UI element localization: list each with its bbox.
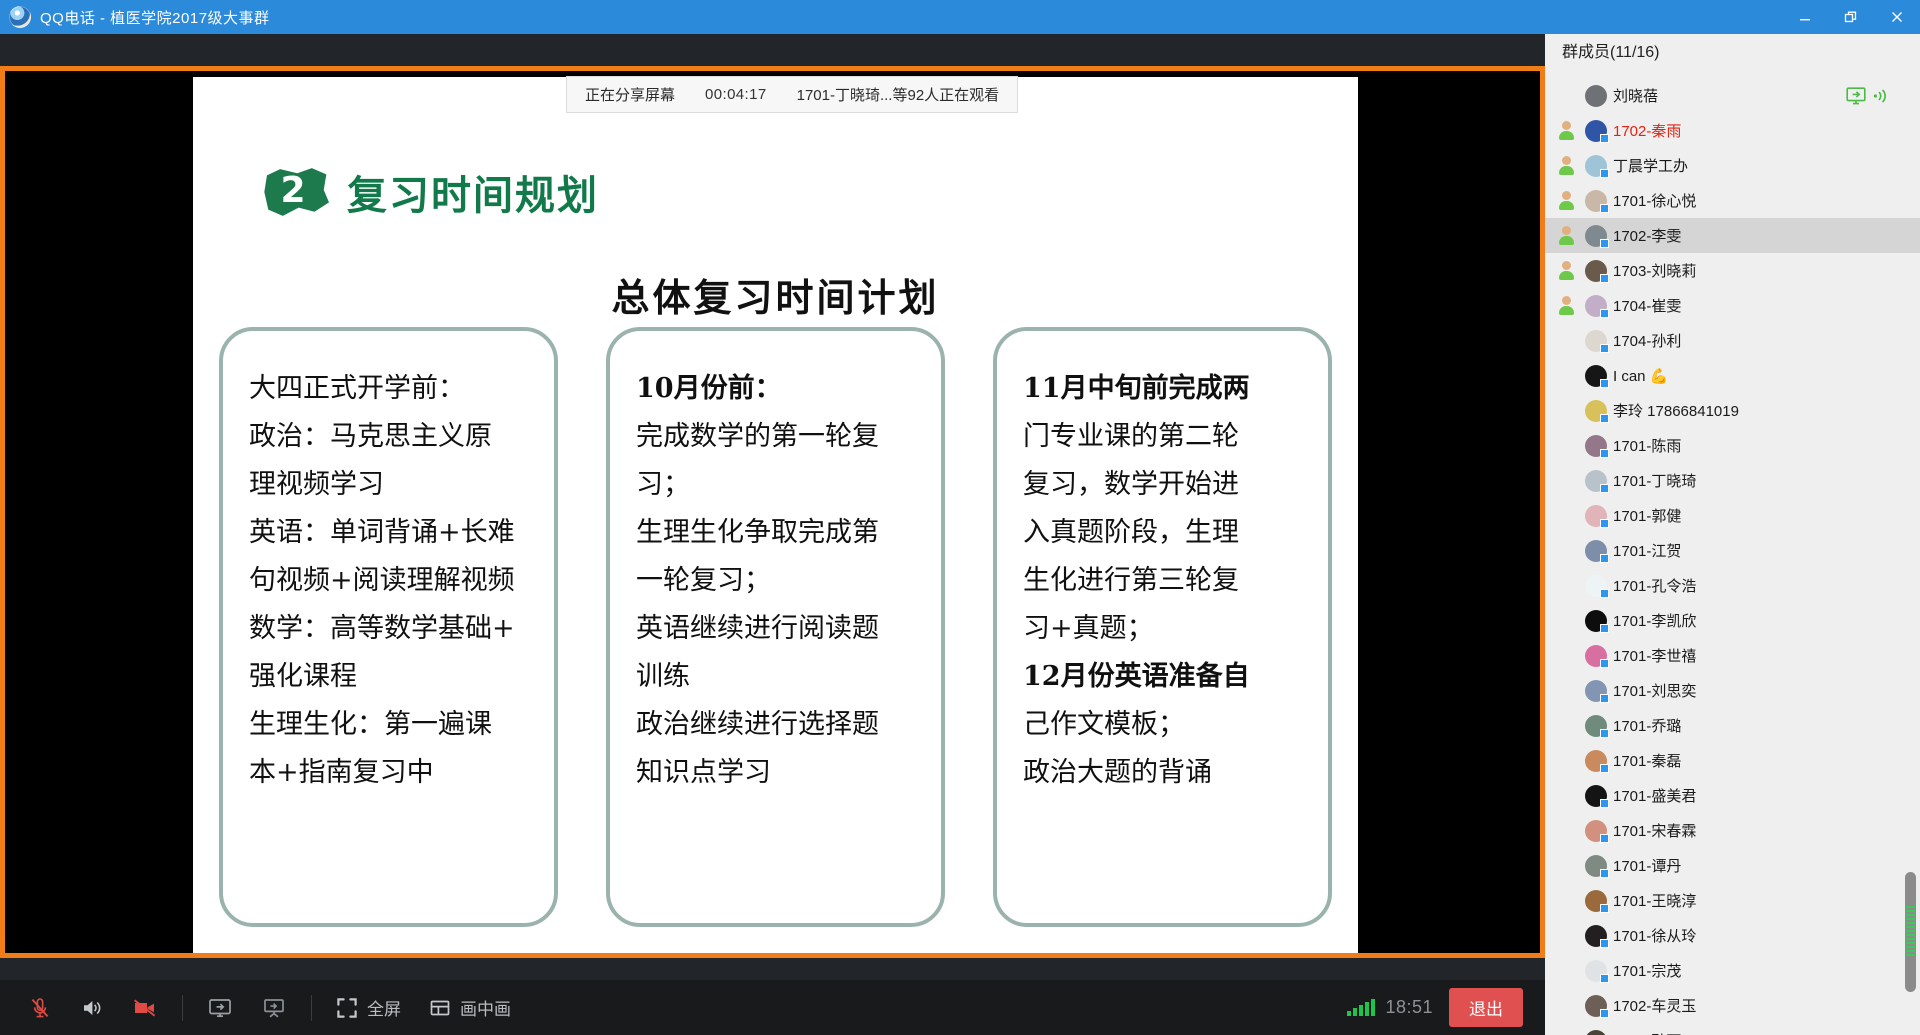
plan-line: 己作文模板； bbox=[1023, 701, 1306, 749]
plan-line: 英语：单词背诵+长难 bbox=[249, 509, 532, 557]
member-avatar bbox=[1585, 435, 1607, 457]
member-avatar bbox=[1585, 225, 1607, 247]
member-name: 1701-宋春霖 bbox=[1613, 820, 1696, 841]
member-mic-slot-empty bbox=[1553, 539, 1579, 563]
share-status-label: 正在分享屏幕 bbox=[585, 84, 675, 105]
member-avatar bbox=[1585, 995, 1607, 1017]
member-avatar bbox=[1585, 505, 1607, 527]
member-avatar bbox=[1585, 400, 1607, 422]
member-avatar bbox=[1585, 855, 1607, 877]
member-list-item[interactable]: 1701-谭丹 bbox=[1545, 848, 1920, 883]
qq-status-badge-icon bbox=[1600, 449, 1609, 458]
member-mic-slot-empty bbox=[1553, 434, 1579, 458]
member-name: 1701-徐从玲 bbox=[1613, 925, 1696, 946]
call-toolbar: 全屏 画中画 18:51 退出 bbox=[0, 980, 1545, 1035]
window-controls bbox=[1782, 0, 1920, 34]
screen-sharing-icon bbox=[1846, 87, 1866, 105]
qq-status-badge-icon bbox=[1600, 239, 1609, 248]
person-icon bbox=[1559, 191, 1574, 210]
qq-penguin-icon bbox=[9, 6, 31, 28]
member-mic-slot-empty bbox=[1553, 84, 1579, 108]
qq-status-badge-icon bbox=[1600, 274, 1609, 283]
plan-box-group: 大四正式开学前： 政治：马克思主义原 理视频学习 英语：单词背诵+长难 句视频+… bbox=[219, 327, 1332, 927]
member-name: 1701-丁晓琦 bbox=[1613, 470, 1696, 491]
member-name: 1701-乔璐 bbox=[1613, 715, 1681, 736]
member-name: 1701-孔令浩 bbox=[1613, 575, 1696, 596]
restore-button[interactable] bbox=[1828, 0, 1874, 34]
member-name: 丁晨学工办 bbox=[1613, 155, 1688, 176]
slide-section-heading: 2 复习时间规划 bbox=[263, 162, 599, 222]
member-list-item[interactable]: 1701-郭健 bbox=[1545, 498, 1920, 533]
section-number: 2 bbox=[260, 160, 326, 220]
close-button[interactable] bbox=[1874, 0, 1920, 34]
member-avatar bbox=[1585, 190, 1607, 212]
qq-status-badge-icon bbox=[1600, 764, 1609, 773]
member-mic-slot-empty bbox=[1553, 679, 1579, 703]
member-list-item[interactable]: 1702-李雯 bbox=[1545, 218, 1920, 253]
member-status-icons bbox=[1846, 87, 1920, 105]
qq-status-badge-icon bbox=[1600, 694, 1609, 703]
member-name: 1701-陈雨 bbox=[1613, 435, 1681, 456]
member-list-item[interactable]: 1701-宋春霖 bbox=[1545, 813, 1920, 848]
member-mic-slot-empty bbox=[1553, 749, 1579, 773]
plan-line: 一轮复习； bbox=[636, 557, 919, 605]
section-title: 复习时间规划 bbox=[347, 163, 599, 221]
picture-in-picture-icon bbox=[429, 997, 451, 1019]
member-avatar bbox=[1585, 155, 1607, 177]
member-list-item[interactable]: 1703-刘晓莉 bbox=[1545, 253, 1920, 288]
microphone-muted-icon bbox=[28, 996, 52, 1020]
plan-line: 10月份前： bbox=[636, 365, 919, 413]
member-mic-slot-empty bbox=[1553, 399, 1579, 423]
qq-call-window: QQ电话 - 植医学院2017级大事群 bbox=[0, 0, 1920, 1035]
member-list-item[interactable]: 刘晓蓓 bbox=[1545, 78, 1920, 113]
member-avatar bbox=[1585, 785, 1607, 807]
qq-status-badge-icon bbox=[1600, 169, 1609, 178]
exit-call-button[interactable]: 退出 bbox=[1449, 988, 1523, 1027]
members-scrollbar-thumb[interactable] bbox=[1906, 906, 1915, 958]
member-avatar bbox=[1585, 85, 1607, 107]
slide-main-title: 总体复习时间计划 bbox=[193, 267, 1358, 322]
share-screen-button[interactable] bbox=[193, 980, 247, 1035]
qq-status-badge-icon bbox=[1600, 309, 1609, 318]
picture-in-picture-button[interactable]: 画中画 bbox=[415, 980, 525, 1035]
member-avatar bbox=[1585, 925, 1607, 947]
plan-line: 强化课程 bbox=[249, 653, 532, 701]
qq-status-badge-icon bbox=[1600, 729, 1609, 738]
member-name: 1701-李凯欣 bbox=[1613, 610, 1696, 631]
member-avatar bbox=[1585, 750, 1607, 772]
fullscreen-label: 全屏 bbox=[367, 995, 401, 1020]
qq-status-badge-icon bbox=[1600, 904, 1609, 913]
plan-line: 12月份英语准备自 bbox=[1023, 653, 1306, 701]
share-viewers-label: 1701-丁晓琦...等92人正在观看 bbox=[797, 84, 1000, 105]
member-mic-on-icon bbox=[1553, 154, 1579, 178]
member-name: 1701-谭丹 bbox=[1613, 855, 1681, 876]
qq-status-badge-icon bbox=[1600, 414, 1609, 423]
member-list-item[interactable]: 1701-孔令浩 bbox=[1545, 568, 1920, 603]
plan-line: 政治：马克思主义原 bbox=[249, 413, 532, 461]
share-screen-icon bbox=[207, 996, 233, 1020]
plan-line: 习； bbox=[636, 461, 919, 509]
shared-slide: 2 复习时间规划 总体复习时间计划 大四正式开学前： 政治：马克思主义原 理视频… bbox=[193, 77, 1358, 953]
microphone-muted-button[interactable] bbox=[14, 980, 66, 1035]
member-mic-slot-empty bbox=[1553, 994, 1579, 1018]
qq-status-badge-icon bbox=[1600, 519, 1609, 528]
plan-line: 门专业课的第二轮 bbox=[1023, 413, 1306, 461]
member-mic-slot-empty bbox=[1553, 644, 1579, 668]
plan-line: 大四正式开学前： bbox=[249, 365, 532, 413]
plan-line: 英语继续进行阅读题 bbox=[636, 605, 919, 653]
member-list-item[interactable]: 1701-乔璐 bbox=[1545, 708, 1920, 743]
qq-status-badge-icon bbox=[1600, 1009, 1609, 1018]
plan-line: 本+指南复习中 bbox=[249, 749, 532, 797]
member-name: 1701-盛美君 bbox=[1613, 785, 1696, 806]
call-clock: 18:51 bbox=[1385, 997, 1433, 1018]
video-stage: 2 复习时间规划 总体复习时间计划 大四正式开学前： 政治：马克思主义原 理视频… bbox=[0, 66, 1545, 958]
member-mic-slot-empty bbox=[1553, 364, 1579, 388]
qq-status-badge-icon bbox=[1600, 624, 1609, 633]
plan-line: 11月中旬前完成两 bbox=[1023, 365, 1306, 413]
member-name: 1703-刘晓莉 bbox=[1613, 260, 1696, 281]
plan-line: 数学：高等数学基础+ bbox=[249, 605, 532, 653]
member-name: I can 💪 bbox=[1613, 367, 1668, 385]
member-mic-slot-empty bbox=[1553, 504, 1579, 528]
member-list[interactable]: 刘晓蓓1702-秦雨丁晨学工办1701-徐心悦1702-李雯1703-刘晓莉17… bbox=[1545, 78, 1920, 1035]
qq-status-badge-icon bbox=[1600, 939, 1609, 948]
member-list-item[interactable]: 1704-孙利 bbox=[1545, 323, 1920, 358]
member-mic-slot-empty bbox=[1553, 714, 1579, 738]
qq-status-badge-icon bbox=[1600, 344, 1609, 353]
qq-status-badge-icon bbox=[1600, 134, 1609, 143]
plan-line: 生理生化：第一遍课 bbox=[249, 701, 532, 749]
member-name: 1702-车灵玉 bbox=[1613, 995, 1696, 1016]
member-list-item[interactable]: 1701-王晓淳 bbox=[1545, 883, 1920, 918]
plan-line: 知识点学习 bbox=[636, 749, 919, 797]
member-name: 1701-王晓淳 bbox=[1613, 890, 1696, 911]
toolbar-divider bbox=[311, 995, 312, 1021]
member-mic-slot-empty bbox=[1553, 924, 1579, 948]
member-avatar bbox=[1585, 890, 1607, 912]
member-name: 1701-李世禧 bbox=[1613, 645, 1696, 666]
member-name: 1704-孙利 bbox=[1613, 330, 1681, 351]
member-avatar bbox=[1585, 120, 1607, 142]
member-list-item[interactable]: 1701-江贺 bbox=[1545, 533, 1920, 568]
share-elapsed-time: 00:04:17 bbox=[705, 86, 767, 103]
members-panel-gap bbox=[1545, 66, 1920, 78]
members-scrollbar[interactable] bbox=[1905, 872, 1916, 992]
person-icon bbox=[1559, 296, 1574, 315]
member-list-item[interactable]: 1701-刘思奕 bbox=[1545, 673, 1920, 708]
member-avatar bbox=[1585, 540, 1607, 562]
member-list-item[interactable]: 1701-陈雨 bbox=[1545, 428, 1920, 463]
plan-line: 句视频+阅读理解视频 bbox=[249, 557, 532, 605]
camera-muted-button[interactable] bbox=[118, 980, 172, 1035]
fullscreen-button[interactable]: 全屏 bbox=[322, 980, 415, 1035]
plan-box-3: 11月中旬前完成两 门专业课的第二轮 复习，数学开始进 入真题阶段，生理 生化进… bbox=[993, 327, 1332, 927]
member-mic-slot-empty bbox=[1553, 609, 1579, 633]
member-mic-slot-empty bbox=[1553, 1029, 1579, 1035]
plan-line: 生理生化争取完成第 bbox=[636, 509, 919, 557]
member-mic-slot-empty bbox=[1553, 889, 1579, 913]
member-list-item[interactable]: 1704-崔雯 bbox=[1545, 288, 1920, 323]
member-mic-on-icon bbox=[1553, 119, 1579, 143]
member-list-item[interactable]: 1701-李世禧 bbox=[1545, 638, 1920, 673]
plan-line: 复习，数学开始进 bbox=[1023, 461, 1306, 509]
member-list-item[interactable]: 1702-耿雨 bbox=[1545, 1023, 1920, 1035]
member-name: 李玲 17866841019 bbox=[1613, 400, 1739, 421]
qq-status-badge-icon bbox=[1600, 799, 1609, 808]
member-list-item[interactable]: 1702-秦雨 bbox=[1545, 113, 1920, 148]
title-bar: QQ电话 - 植医学院2017级大事群 bbox=[0, 0, 1920, 34]
member-list-item[interactable]: 1701-丁晓琦 bbox=[1545, 463, 1920, 498]
member-mic-on-icon bbox=[1553, 259, 1579, 283]
member-name: 1701-秦磊 bbox=[1613, 750, 1681, 771]
person-icon bbox=[1559, 261, 1574, 280]
qq-status-badge-icon bbox=[1600, 834, 1609, 843]
member-list-item[interactable]: I can 💪 bbox=[1545, 358, 1920, 393]
plan-line: 完成数学的第一轮复 bbox=[636, 413, 919, 461]
speaker-button[interactable] bbox=[66, 980, 118, 1035]
member-avatar bbox=[1585, 820, 1607, 842]
member-mic-slot-empty bbox=[1553, 819, 1579, 843]
members-panel-header: 群成员(11/16) bbox=[1545, 34, 1920, 66]
member-avatar bbox=[1585, 575, 1607, 597]
member-avatar bbox=[1585, 330, 1607, 352]
member-list-item[interactable]: 1702-车灵玉 bbox=[1545, 988, 1920, 1023]
member-list-item[interactable]: 1701-秦磊 bbox=[1545, 743, 1920, 778]
member-avatar bbox=[1585, 960, 1607, 982]
member-name: 1701-江贺 bbox=[1613, 540, 1681, 561]
member-name: 1702-李雯 bbox=[1613, 225, 1681, 246]
member-list-item[interactable]: 1701-徐心悦 bbox=[1545, 183, 1920, 218]
member-avatar bbox=[1585, 365, 1607, 387]
share-status-bar: 正在分享屏幕 00:04:17 1701-丁晓琦...等92人正在观看 bbox=[566, 76, 1018, 113]
member-list-item[interactable]: 李玲 17866841019 bbox=[1545, 393, 1920, 428]
person-icon bbox=[1559, 121, 1574, 140]
member-name: 1702-秦雨 bbox=[1613, 120, 1681, 141]
plan-box-2: 10月份前： 完成数学的第一轮复 习； 生理生化争取完成第 一轮复习； 英语继续… bbox=[606, 327, 945, 927]
plan-box-1: 大四正式开学前： 政治：马克思主义原 理视频学习 英语：单词背诵+长难 句视频+… bbox=[219, 327, 558, 927]
plan-line: 训练 bbox=[636, 653, 919, 701]
window-title: QQ电话 - 植医学院2017级大事群 bbox=[40, 7, 270, 28]
member-mic-slot-empty bbox=[1553, 469, 1579, 493]
member-avatar bbox=[1585, 680, 1607, 702]
qq-status-badge-icon bbox=[1600, 379, 1609, 388]
member-avatar bbox=[1585, 260, 1607, 282]
camera-muted-icon bbox=[132, 996, 158, 1020]
pip-label: 画中画 bbox=[460, 995, 511, 1020]
member-list-item[interactable]: 1701-徐从玲 bbox=[1545, 918, 1920, 953]
speaking-wave-icon bbox=[1872, 87, 1890, 105]
section-number-badge-icon: 2 bbox=[263, 162, 329, 222]
member-mic-slot-empty bbox=[1553, 784, 1579, 808]
member-list-item[interactable]: 丁晨学工办 bbox=[1545, 148, 1920, 183]
member-name: 1701-郭健 bbox=[1613, 505, 1681, 526]
network-signal-icon bbox=[1347, 1000, 1375, 1016]
member-mic-slot-empty bbox=[1553, 329, 1579, 353]
person-icon bbox=[1559, 226, 1574, 245]
member-mic-on-icon bbox=[1553, 224, 1579, 248]
qq-status-badge-icon bbox=[1600, 554, 1609, 563]
member-mic-slot-empty bbox=[1553, 959, 1579, 983]
member-mic-slot-empty bbox=[1553, 854, 1579, 878]
toolbar-divider bbox=[182, 995, 183, 1021]
member-name: 刘晓蓓 bbox=[1613, 85, 1658, 106]
plan-line: 入真题阶段，生理 bbox=[1023, 509, 1306, 557]
member-mic-on-icon bbox=[1553, 294, 1579, 318]
member-name: 1702-耿雨 bbox=[1613, 1030, 1681, 1035]
whiteboard-button[interactable] bbox=[247, 980, 301, 1035]
member-avatar bbox=[1585, 470, 1607, 492]
qq-status-badge-icon bbox=[1600, 589, 1609, 598]
member-list-item[interactable]: 1701-宗茂 bbox=[1545, 953, 1920, 988]
member-mic-on-icon bbox=[1553, 189, 1579, 213]
qq-status-badge-icon bbox=[1600, 484, 1609, 493]
plan-line: 生化进行第三轮复 bbox=[1023, 557, 1306, 605]
speaker-icon bbox=[80, 996, 104, 1020]
group-members-panel: 群成员(11/16) 刘晓蓓1702-秦雨丁晨学工办1701-徐心悦1702-李… bbox=[1545, 34, 1920, 1035]
member-avatar bbox=[1585, 1030, 1607, 1035]
member-name: 1701-宗茂 bbox=[1613, 960, 1681, 981]
plan-line: 理视频学习 bbox=[249, 461, 532, 509]
fullscreen-icon bbox=[336, 997, 358, 1019]
member-avatar bbox=[1585, 295, 1607, 317]
member-avatar bbox=[1585, 715, 1607, 737]
minimize-button[interactable] bbox=[1782, 0, 1828, 34]
plan-line: 政治大题的背诵 bbox=[1023, 749, 1306, 797]
qq-status-badge-icon bbox=[1600, 659, 1609, 668]
member-mic-slot-empty bbox=[1553, 574, 1579, 598]
stage-inner: 2 复习时间规划 总体复习时间计划 大四正式开学前： 政治：马克思主义原 理视频… bbox=[5, 71, 1540, 953]
qq-status-badge-icon bbox=[1600, 204, 1609, 213]
qq-status-badge-icon bbox=[1600, 869, 1609, 878]
plan-line: 习+真题； bbox=[1023, 605, 1306, 653]
member-name: 1701-刘思奕 bbox=[1613, 680, 1696, 701]
person-icon bbox=[1559, 156, 1574, 175]
whiteboard-icon bbox=[261, 996, 287, 1020]
member-name: 1704-崔雯 bbox=[1613, 295, 1681, 316]
member-avatar bbox=[1585, 645, 1607, 667]
plan-line: 政治继续进行选择题 bbox=[636, 701, 919, 749]
member-name: 1701-徐心悦 bbox=[1613, 190, 1696, 211]
qq-status-badge-icon bbox=[1600, 974, 1609, 983]
member-list-item[interactable]: 1701-李凯欣 bbox=[1545, 603, 1920, 638]
member-avatar bbox=[1585, 610, 1607, 632]
member-list-item[interactable]: 1701-盛美君 bbox=[1545, 778, 1920, 813]
